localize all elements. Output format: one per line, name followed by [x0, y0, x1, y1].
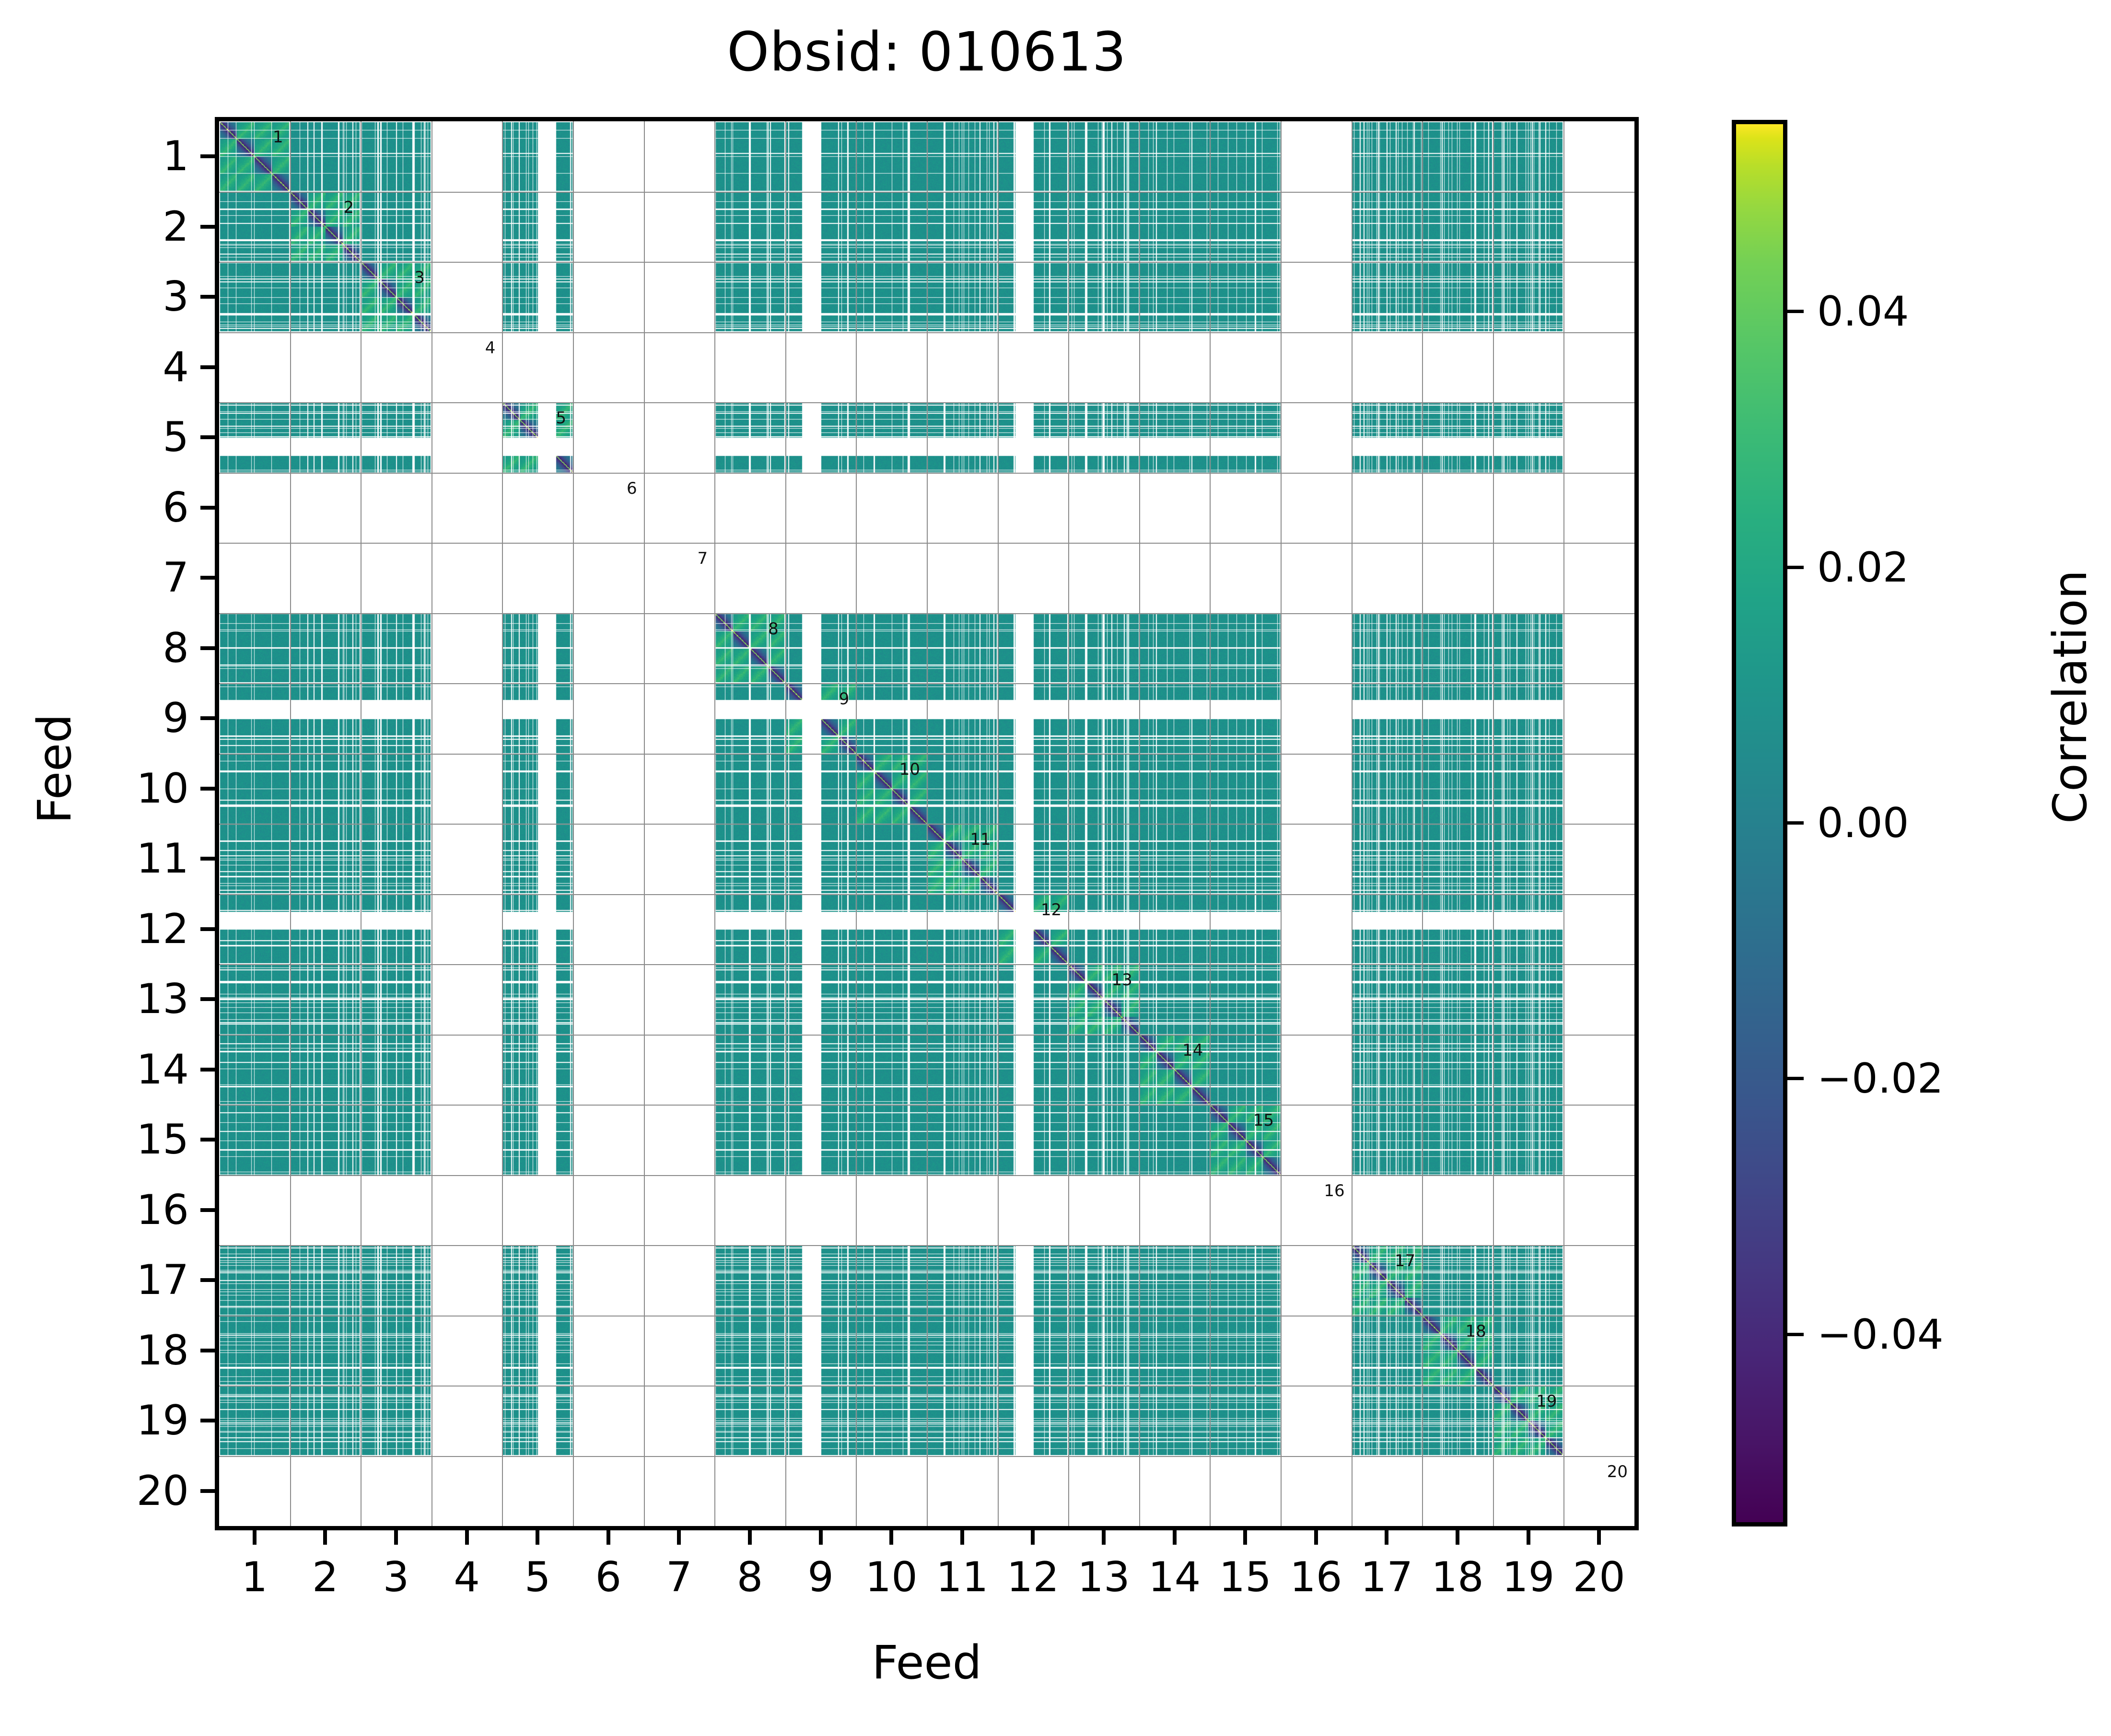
y-tick-label-18: 18: [137, 1327, 189, 1375]
colorbar-tick-label-3: −0.02: [1817, 1055, 1944, 1103]
cell-annotation-feed-7: 7: [698, 550, 708, 567]
cell-annotation-feed-9: 9: [839, 691, 850, 707]
x-tick-label-3: 3: [383, 1553, 409, 1601]
colorbar-tick-mark: [1787, 566, 1804, 569]
cell-annotation-feed-14: 14: [1182, 1042, 1203, 1059]
colorbar-tick-label-2: 0.00: [1817, 799, 1909, 847]
x-tick-label-16: 16: [1290, 1553, 1342, 1601]
y-tick-mark: [200, 1068, 215, 1072]
x-tick-label-2: 2: [312, 1553, 338, 1601]
y-tick-mark: [200, 506, 215, 510]
x-tick-mark: [1102, 1530, 1106, 1545]
x-tick-mark: [394, 1530, 398, 1545]
colorbar-tick-mark: [1787, 821, 1804, 825]
y-tick-label-14: 14: [137, 1046, 189, 1094]
x-tick-label-18: 18: [1431, 1553, 1483, 1601]
cell-annotation-feed-8: 8: [768, 621, 779, 637]
colorbar-tick-label-0: 0.04: [1817, 288, 1909, 336]
y-tick-mark: [200, 1349, 215, 1352]
y-tick-label-7: 7: [163, 554, 189, 602]
colorbar-label: Correlation: [2043, 570, 2097, 824]
gridline-horizontal: [219, 1386, 1634, 1386]
x-tick-mark: [536, 1530, 539, 1545]
y-axis-label: Feed: [28, 714, 82, 824]
colorbar-tick-label-1: 0.02: [1817, 544, 1909, 592]
y-tick-mark: [200, 1419, 215, 1422]
cell-annotation-feed-3: 3: [414, 269, 425, 286]
x-tick-mark: [1173, 1530, 1177, 1545]
y-tick-label-5: 5: [163, 413, 189, 461]
gridline-vertical: [1563, 121, 1564, 1526]
x-tick-mark: [819, 1530, 823, 1545]
y-tick-mark: [200, 1138, 215, 1142]
cell-annotation-feed-20: 20: [1607, 1464, 1628, 1480]
y-tick-mark: [200, 1278, 215, 1282]
x-tick-mark: [1385, 1530, 1388, 1545]
y-tick-label-16: 16: [137, 1186, 189, 1234]
y-tick-mark: [200, 365, 215, 369]
x-tick-mark: [253, 1530, 257, 1545]
cell-annotation-feed-17: 17: [1395, 1253, 1415, 1269]
x-tick-mark: [465, 1530, 469, 1545]
colorbar-tick-mark: [1787, 1077, 1804, 1080]
y-tick-label-10: 10: [137, 765, 189, 813]
y-tick-mark: [200, 997, 215, 1001]
y-tick-label-15: 15: [137, 1116, 189, 1164]
cell-annotation-feed-4: 4: [485, 340, 496, 356]
y-tick-label-20: 20: [137, 1467, 189, 1515]
x-tick-label-19: 19: [1502, 1553, 1554, 1601]
x-tick-label-4: 4: [454, 1553, 480, 1601]
cell-annotation-feed-15: 15: [1253, 1112, 1274, 1129]
y-tick-label-17: 17: [137, 1256, 189, 1304]
cell-annotation-feed-19: 19: [1536, 1393, 1557, 1410]
y-tick-label-8: 8: [163, 624, 189, 672]
colorbar-gradient: [1736, 124, 1783, 1522]
x-tick-mark: [1243, 1530, 1247, 1545]
y-tick-label-9: 9: [163, 694, 189, 742]
x-tick-label-5: 5: [525, 1553, 551, 1601]
x-tick-label-12: 12: [1007, 1553, 1059, 1601]
x-tick-mark: [323, 1530, 327, 1545]
x-tick-mark: [606, 1530, 610, 1545]
x-tick-label-9: 9: [807, 1553, 834, 1601]
x-axis-label: Feed: [215, 1636, 1639, 1689]
x-tick-label-14: 14: [1148, 1553, 1201, 1601]
cell-annotation-feed-5: 5: [556, 410, 566, 426]
cell-annotation-feed-12: 12: [1041, 902, 1061, 918]
x-tick-mark: [889, 1530, 893, 1545]
x-tick-mark: [1031, 1530, 1035, 1545]
gridline-horizontal: [219, 1316, 1634, 1317]
cell-annotation-feed-11: 11: [970, 831, 991, 848]
x-tick-mark: [1314, 1530, 1318, 1545]
x-tick-mark: [748, 1530, 752, 1545]
y-tick-label-11: 11: [137, 835, 189, 883]
y-tick-mark: [200, 295, 215, 299]
y-tick-label-13: 13: [137, 975, 189, 1023]
cell-annotation-feed-2: 2: [344, 199, 354, 216]
y-tick-label-6: 6: [163, 484, 189, 532]
x-tick-label-10: 10: [865, 1553, 917, 1601]
cell-annotation-feed-6: 6: [627, 480, 637, 497]
x-tick-label-20: 20: [1573, 1553, 1625, 1601]
y-tick-mark: [200, 927, 215, 931]
gridline-horizontal: [219, 1456, 1634, 1457]
x-tick-label-15: 15: [1219, 1553, 1271, 1601]
x-tick-label-6: 6: [595, 1553, 621, 1601]
x-tick-label-17: 17: [1361, 1553, 1413, 1601]
y-tick-label-4: 4: [163, 343, 189, 391]
y-tick-label-3: 3: [163, 273, 189, 321]
y-tick-mark: [200, 716, 215, 720]
y-tick-mark: [200, 435, 215, 439]
matrix-plot-area: 1234567891011121314151617181920: [219, 121, 1634, 1526]
y-tick-mark: [200, 857, 215, 861]
colorbar-tick-mark: [1787, 310, 1804, 313]
colorbar: [1732, 120, 1787, 1526]
y-tick-mark: [200, 225, 215, 229]
y-tick-mark: [200, 154, 215, 158]
page-title: Obsid: 010613: [215, 23, 1639, 82]
colorbar-tick-label-4: −0.04: [1817, 1311, 1944, 1359]
x-tick-mark: [677, 1530, 681, 1545]
x-tick-mark: [1456, 1530, 1459, 1545]
cell-annotation-feed-13: 13: [1112, 972, 1132, 988]
gridline-vertical: [1493, 121, 1494, 1526]
matrix-axes: 1234567891011121314151617181920: [215, 117, 1639, 1530]
y-tick-mark: [200, 1489, 215, 1493]
y-tick-mark: [200, 576, 215, 580]
x-tick-mark: [1527, 1530, 1530, 1545]
colorbar-tick-mark: [1787, 1333, 1804, 1336]
y-tick-mark: [200, 787, 215, 791]
y-tick-mark: [200, 646, 215, 650]
x-tick-label-13: 13: [1077, 1553, 1130, 1601]
y-tick-label-1: 1: [163, 132, 189, 180]
cell-annotation-feed-1: 1: [273, 129, 283, 145]
x-tick-label-7: 7: [666, 1553, 692, 1601]
cell-annotation-feed-16: 16: [1324, 1183, 1344, 1199]
correlation-matrix-figure: Obsid: 010613 12345678910111213141516171…: [0, 0, 2111, 1736]
y-tick-label-12: 12: [137, 905, 189, 953]
x-tick-mark: [1597, 1530, 1601, 1545]
x-tick-label-1: 1: [241, 1553, 268, 1601]
y-tick-label-2: 2: [163, 203, 189, 251]
y-tick-mark: [200, 1208, 215, 1212]
x-tick-mark: [960, 1530, 964, 1545]
x-tick-label-11: 11: [936, 1553, 988, 1601]
y-tick-label-19: 19: [137, 1397, 189, 1445]
cell-annotation-feed-10: 10: [899, 761, 920, 778]
x-tick-label-8: 8: [737, 1553, 763, 1601]
cell-annotation-feed-18: 18: [1466, 1323, 1486, 1340]
